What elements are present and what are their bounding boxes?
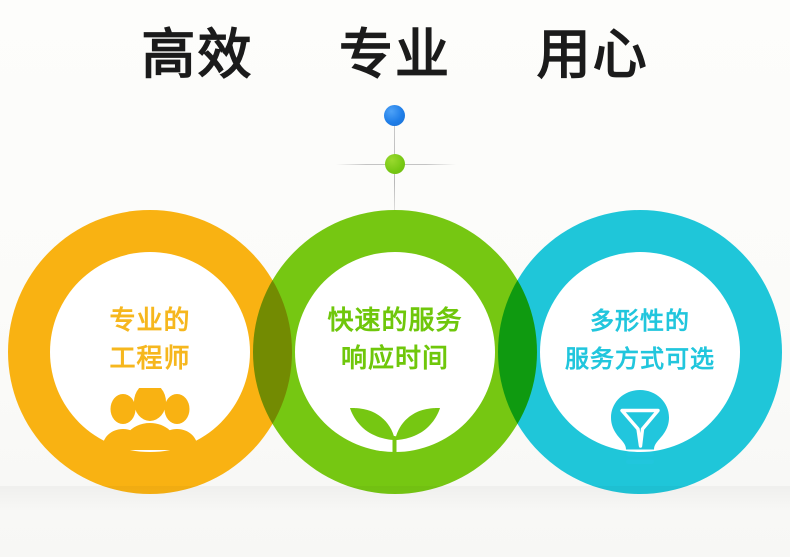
- circle-cyan-line-1: 多形性的: [498, 302, 782, 340]
- circle-orange-line-1: 专业的: [8, 302, 292, 340]
- infographic-canvas: 高效 专业 用心 专业的 工程师: [0, 0, 790, 557]
- circle-panel-green: 快速的服务 响应时间: [253, 210, 537, 494]
- circle-cyan-line-2: 服务方式可选: [498, 340, 782, 378]
- circle-green-line-1: 快速的服务: [253, 302, 537, 340]
- sprout-leaf-icon: [253, 388, 537, 466]
- circle-panel-orange: 专业的 工程师: [8, 210, 292, 494]
- circle-orange-text: 专业的 工程师: [8, 302, 292, 378]
- circle-cyan-text: 多形性的 服务方式可选: [498, 302, 782, 378]
- circle-orange-line-2: 工程师: [8, 340, 292, 378]
- people-group-icon: [8, 388, 292, 466]
- circle-green-line-2: 响应时间: [253, 340, 537, 378]
- circle-green-text: 快速的服务 响应时间: [253, 302, 537, 378]
- circle-panel-cyan: 多形性的 服务方式可选: [498, 210, 782, 494]
- lightbulb-icon: [498, 388, 782, 466]
